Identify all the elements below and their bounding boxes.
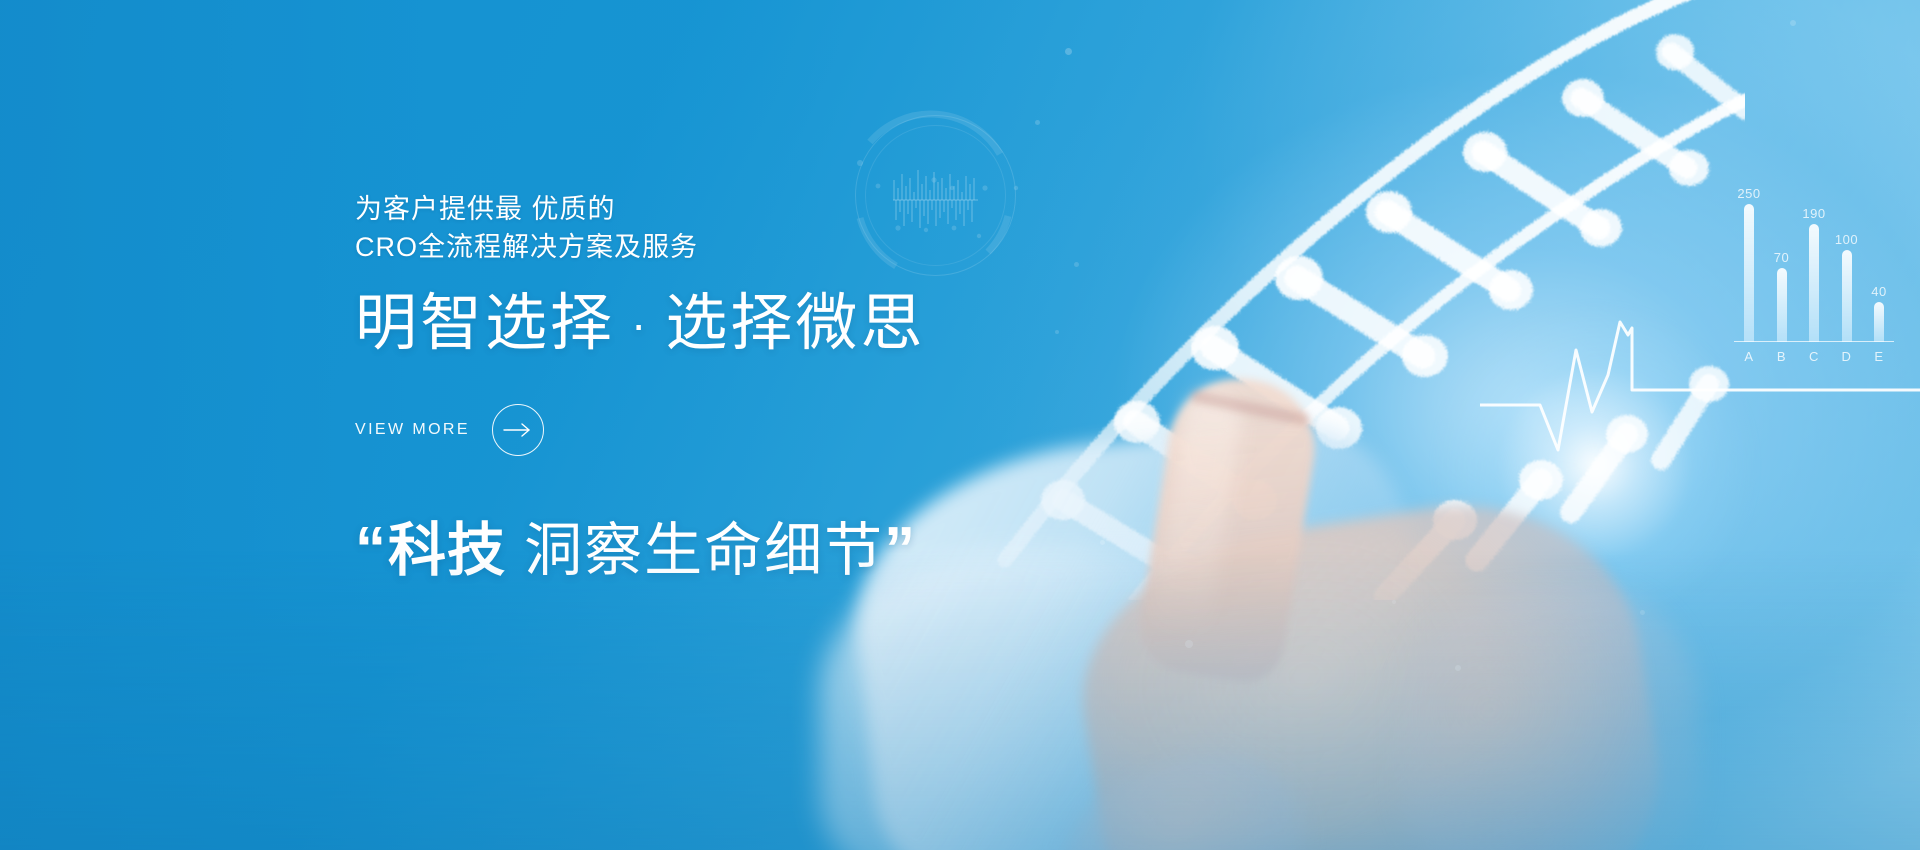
view-more-label: VIEW MORE: [355, 421, 470, 439]
bokeh-dot: [1035, 120, 1040, 125]
bar-column: 70: [1773, 186, 1791, 342]
bar-category-label: B: [1773, 349, 1791, 364]
hero-headline: 明智选择·选择微思: [355, 289, 1115, 358]
hero-headline-part-2: 选择微思: [665, 289, 925, 358]
bar-chart: 250 70 190 100 40: [1734, 186, 1894, 384]
hero-subtitle-line-1: 为客户提供最 优质的: [355, 190, 1115, 228]
arrow-right-icon: [503, 422, 533, 438]
bar-category-label: C: [1805, 349, 1823, 364]
bar: [1777, 268, 1787, 342]
bar-category-label: A: [1740, 349, 1758, 364]
bar-chart-axis-line: [1734, 341, 1894, 342]
bar-value-label: 190: [1802, 206, 1825, 221]
bar: [1874, 302, 1884, 342]
bar-category-label: E: [1870, 349, 1888, 364]
bar-chart-plot: 250 70 190 100 40: [1734, 186, 1894, 342]
bar: [1744, 204, 1754, 342]
view-more-circle[interactable]: [492, 404, 544, 456]
bokeh-dot: [1790, 20, 1796, 26]
bar-category-label: D: [1838, 349, 1856, 364]
bokeh-dot: [1065, 48, 1072, 55]
bar-value-label: 100: [1835, 232, 1858, 247]
bar: [1809, 224, 1819, 342]
hero-headline-part-1: 明智选择: [355, 289, 615, 358]
bar-chart-bars: 250 70 190 100 40: [1734, 186, 1894, 342]
hero-banner: 250 70 190 100 40: [0, 0, 1920, 850]
bar-column: 100: [1838, 186, 1856, 342]
view-more-button[interactable]: VIEW MORE: [355, 404, 544, 456]
hero-subtitle: 为客户提供最 优质的 CRO全流程解决方案及服务: [355, 190, 1115, 267]
bar-column: 40: [1870, 186, 1888, 342]
background-bottom-shade: [0, 550, 1920, 850]
bar-chart-category-labels: A B C D E: [1734, 342, 1894, 364]
bar-value-label: 70: [1774, 250, 1789, 265]
bar-value-label: 250: [1737, 186, 1760, 201]
hero-content: 为客户提供最 优质的 CRO全流程解决方案及服务 明智选择·选择微思 VIEW …: [355, 190, 1115, 585]
hero-headline-separator: ·: [615, 298, 665, 350]
bar-column: 190: [1805, 186, 1823, 342]
bar: [1842, 250, 1852, 342]
hero-subtitle-line-2: CRO全流程解决方案及服务: [355, 228, 1115, 266]
bar-column: 250: [1740, 186, 1758, 342]
bar-value-label: 40: [1871, 284, 1886, 299]
